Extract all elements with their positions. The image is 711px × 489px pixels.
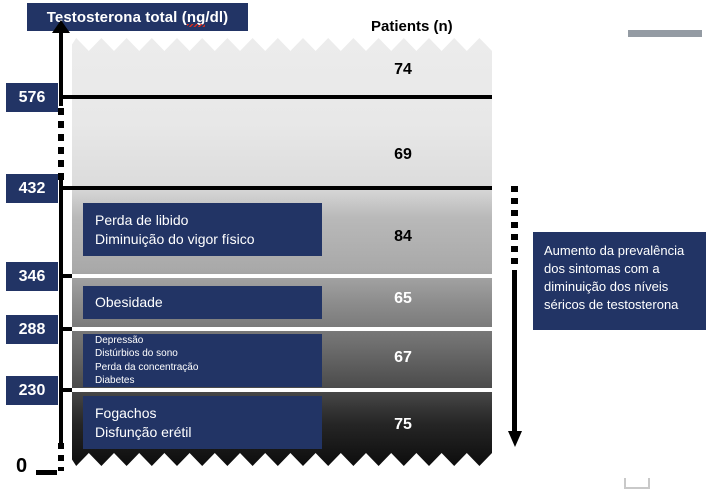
y-axis-line [59,30,63,443]
annotation-line: séricos de testosterona [544,297,678,312]
symptom-line: Diminuição do vigor físico [95,230,310,249]
annotation-line: Aumento da prevalência [544,243,684,258]
symptom-line: Obesidade [95,293,310,312]
symptom-box-obesity: Obesidade [83,286,322,319]
axis-label-346: 346 [6,262,58,291]
symptom-line: Perda da concentração [95,361,310,374]
chart-title-suffix: /dl) [205,9,228,26]
symptom-line: Fogachos [95,404,310,423]
patients-column-header: Patients (n) [371,18,511,35]
diagram-canvas: Testosterona total (ng/dl) 576 432 346 2… [0,0,711,485]
axis-label-432: 432 [6,174,58,203]
patients-value-6: 75 [373,416,433,434]
annotation-box: Aumento da prevalência dos sintomas com … [533,232,706,330]
patients-value-1: 74 [373,61,433,79]
chart-title-spellchecked-word: ng [187,9,206,26]
band-separator-230 [72,388,492,392]
band-separator-432 [72,186,492,190]
symptom-box-depression-group: Depressão Distúrbios do sono Perda da co… [83,334,322,387]
patients-value-3: 84 [373,228,433,246]
y-axis-dotted-lower [58,443,64,471]
symptom-line: Perda de libido [95,211,310,230]
band-separator-576 [72,95,492,99]
symptom-line: Diabetes [95,374,310,387]
band-separator-288 [72,327,492,331]
decorative-corner-mark [624,478,650,489]
arrow-dotted-segment [511,186,518,270]
axis-label-zero: 0 [16,455,27,478]
axis-label-288: 288 [6,315,58,344]
symptom-box-hotflashes: Fogachos Disfunção erétil [83,396,322,449]
tick-zero [36,470,57,475]
annotation-line: dos sintomas com a [544,261,660,276]
band-separator-346 [72,274,492,278]
patients-value-2: 69 [373,146,433,164]
annotation-line: diminuição dos níveis [544,279,668,294]
y-axis-dotted-upper [58,108,64,180]
symptom-line: Disfunção erétil [95,423,310,442]
downward-trend-arrow-icon [508,186,522,454]
patients-value-5: 67 [373,349,433,367]
patients-value-4: 65 [373,290,433,308]
arrow-head [508,431,522,447]
decorative-gray-bar [628,30,702,37]
symptom-line: Depressão [95,334,310,347]
symptom-box-libido: Perda de libido Diminuição do vigor físi… [83,203,322,256]
axis-label-576: 576 [6,83,58,112]
arrow-stem [512,270,517,434]
axis-label-230: 230 [6,376,58,405]
symptom-line: Distúrbios do sono [95,347,310,360]
